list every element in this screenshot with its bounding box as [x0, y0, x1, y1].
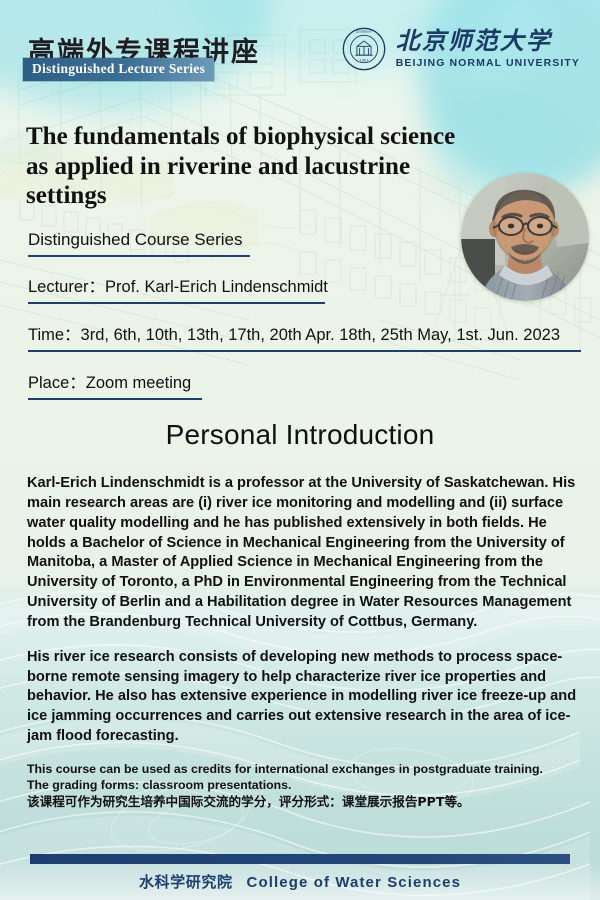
university-name-en: BEIJING NORMAL UNIVERSITY	[396, 57, 580, 69]
credits-note: This course can be used as credits for i…	[27, 762, 583, 810]
university-logo: 1902 北京师范大学 北京师范大学 BEIJING NORMAL UNIVER…	[342, 27, 580, 71]
note-line-3-chinese: 该课程可作为研究生培养中国际交流的学分，评分形式：课堂展示报告PPT等。	[27, 794, 583, 810]
detail-row-time: Time：3rd, 6th, 10th, 13th, 17th, 20th Ap…	[28, 321, 578, 352]
place-label: Place：Zoom meeting	[28, 369, 578, 398]
university-name-cn: 北京师范大学	[396, 29, 552, 54]
footer-en: College of Water Sciences	[247, 874, 462, 891]
series-label: Distinguished Course Series	[28, 230, 578, 255]
footer-cn: 水科学研究院	[139, 873, 233, 891]
time-underline	[28, 350, 581, 352]
event-details: Distinguished Course Series Lecturer：Pro…	[28, 230, 578, 412]
bnu-seal-icon: 1902 北京师范大学	[342, 27, 386, 71]
place-underline	[28, 398, 202, 400]
detail-row-lecturer: Lecturer：Prof. Karl-Erich Lindenschmidt	[28, 273, 578, 304]
footer-organization: 水科学研究院College of Water Sciences	[0, 871, 600, 892]
time-label: Time：3rd, 6th, 10th, 13th, 17th, 20th Ap…	[28, 321, 578, 350]
note-line-2: The grading forms: classroom presentatio…	[27, 778, 583, 794]
personal-introduction-heading: Personal Introduction	[0, 419, 600, 451]
lecture-series-label: Distinguished Lecture Series	[32, 61, 205, 76]
distinguished-lecture-series-band: Distinguished Lecture Series	[23, 58, 214, 81]
poster-header: 高端外专课程讲座 Distinguished Lecture Series 19…	[0, 0, 600, 100]
personal-introduction-body: Karl-Erich Lindenschmidt is a professor …	[27, 474, 580, 762]
svg-text:1902: 1902	[359, 58, 368, 62]
intro-paragraph-1: Karl-Erich Lindenschmidt is a professor …	[27, 474, 580, 633]
svg-text:北京师范大学: 北京师范大学	[356, 30, 372, 34]
footer-bar	[30, 854, 570, 864]
lecturer-underline	[28, 302, 325, 304]
detail-row-place: Place：Zoom meeting	[28, 369, 578, 400]
note-line-1: This course can be used as credits for i…	[27, 762, 583, 778]
series-underline	[28, 255, 250, 257]
page-title: The fundamentals of biophysical science …	[26, 122, 456, 211]
intro-paragraph-2: His river ice research consists of devel…	[27, 648, 580, 747]
lecturer-label: Lecturer：Prof. Karl-Erich Lindenschmidt	[28, 273, 578, 302]
poster-root: 高端外专课程讲座 Distinguished Lecture Series 19…	[0, 0, 600, 900]
detail-row-series: Distinguished Course Series	[28, 230, 578, 257]
